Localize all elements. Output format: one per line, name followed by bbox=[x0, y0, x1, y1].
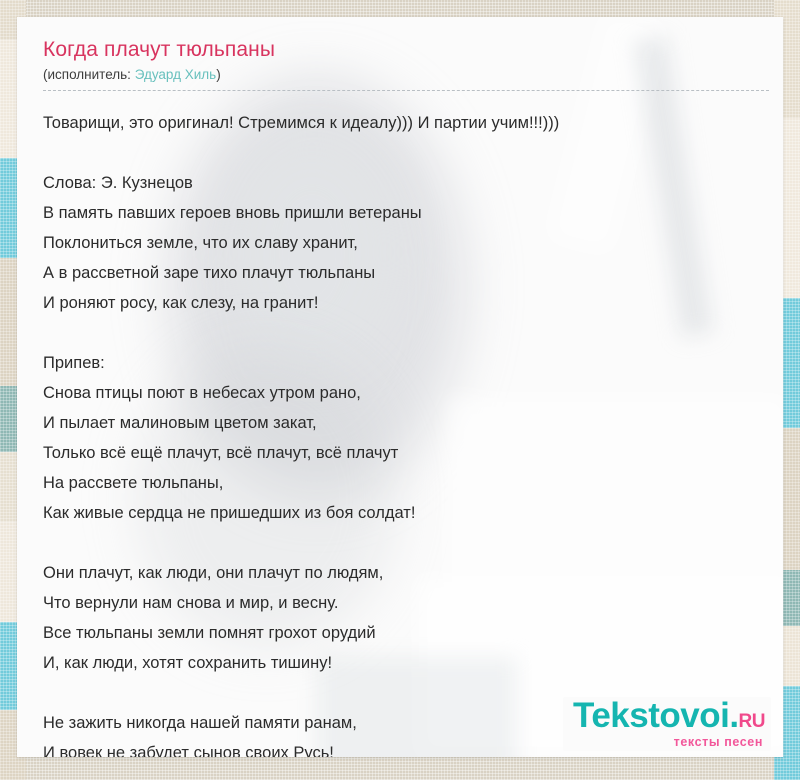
lyrics-stanza: Слова: Э. КузнецовВ память павших героев… bbox=[43, 168, 757, 318]
performer-line: (исполнитель: Эдуард Хиль) bbox=[43, 66, 769, 91]
lyrics-stanza: Припев:Снова птицы поют в небесах утром … bbox=[43, 348, 757, 528]
lyrics-card: Когда плачут тюльпаны (исполнитель: Эдуа… bbox=[17, 17, 783, 757]
performer-prefix-label: (исполнитель: bbox=[43, 67, 135, 82]
performer-suffix-label: ) bbox=[216, 67, 221, 82]
lyrics-line: А в рассветной заре тихо плачут тюльпаны bbox=[43, 258, 757, 288]
logo-tld-text: RU bbox=[739, 711, 765, 732]
lyrics-line: Они плачут, как люди, они плачут по людя… bbox=[43, 558, 757, 588]
lyrics-line: Только всё ещё плачут, всё плачут, всё п… bbox=[43, 438, 757, 468]
lyrics-line: Снова птицы поют в небесах утром рано, bbox=[43, 378, 757, 408]
lyrics-line: И, как люди, хотят сохранить тишину! bbox=[43, 648, 757, 678]
lyrics-line: На рассвете тюльпаны, bbox=[43, 468, 757, 498]
lyrics-line: Слова: Э. Кузнецов bbox=[43, 168, 757, 198]
lyrics-line: Все тюльпаны земли помнят грохот орудий bbox=[43, 618, 757, 648]
lyrics-stanza: Они плачут, как люди, они плачут по людя… bbox=[43, 558, 757, 678]
page-title: Когда плачут тюльпаны bbox=[43, 37, 757, 63]
logo-dot: . bbox=[729, 696, 738, 735]
lyrics-line: Поклониться земле, что их славу хранит, bbox=[43, 228, 757, 258]
site-logo: Tekstovoi.RU тексты песен bbox=[563, 697, 771, 751]
lyrics-line: Товарищи, это оригинал! Стремимся к идеа… bbox=[43, 108, 757, 138]
performer-link[interactable]: Эдуард Хиль bbox=[135, 67, 217, 82]
lyrics-line: И пылает малиновым цветом закат, bbox=[43, 408, 757, 438]
logo-wordmark: Tekstovoi.RU bbox=[573, 699, 765, 739]
lyrics-stanza: Товарищи, это оригинал! Стремимся к идеа… bbox=[43, 108, 757, 138]
lyrics-line: В память павших героев вновь пришли вете… bbox=[43, 198, 757, 228]
lyrics-line: Припев: bbox=[43, 348, 757, 378]
lyrics-text-body: Товарищи, это оригинал! Стремимся к идеа… bbox=[43, 108, 757, 757]
lyrics-line: Как живые сердца не пришедших из боя сол… bbox=[43, 498, 757, 528]
logo-main-text: Tekstovoi bbox=[573, 696, 729, 735]
lyrics-line: И роняют росу, как слезу, на гранит! bbox=[43, 288, 757, 318]
lyrics-line: Что вернули нам снова и мир, и весну. bbox=[43, 588, 757, 618]
